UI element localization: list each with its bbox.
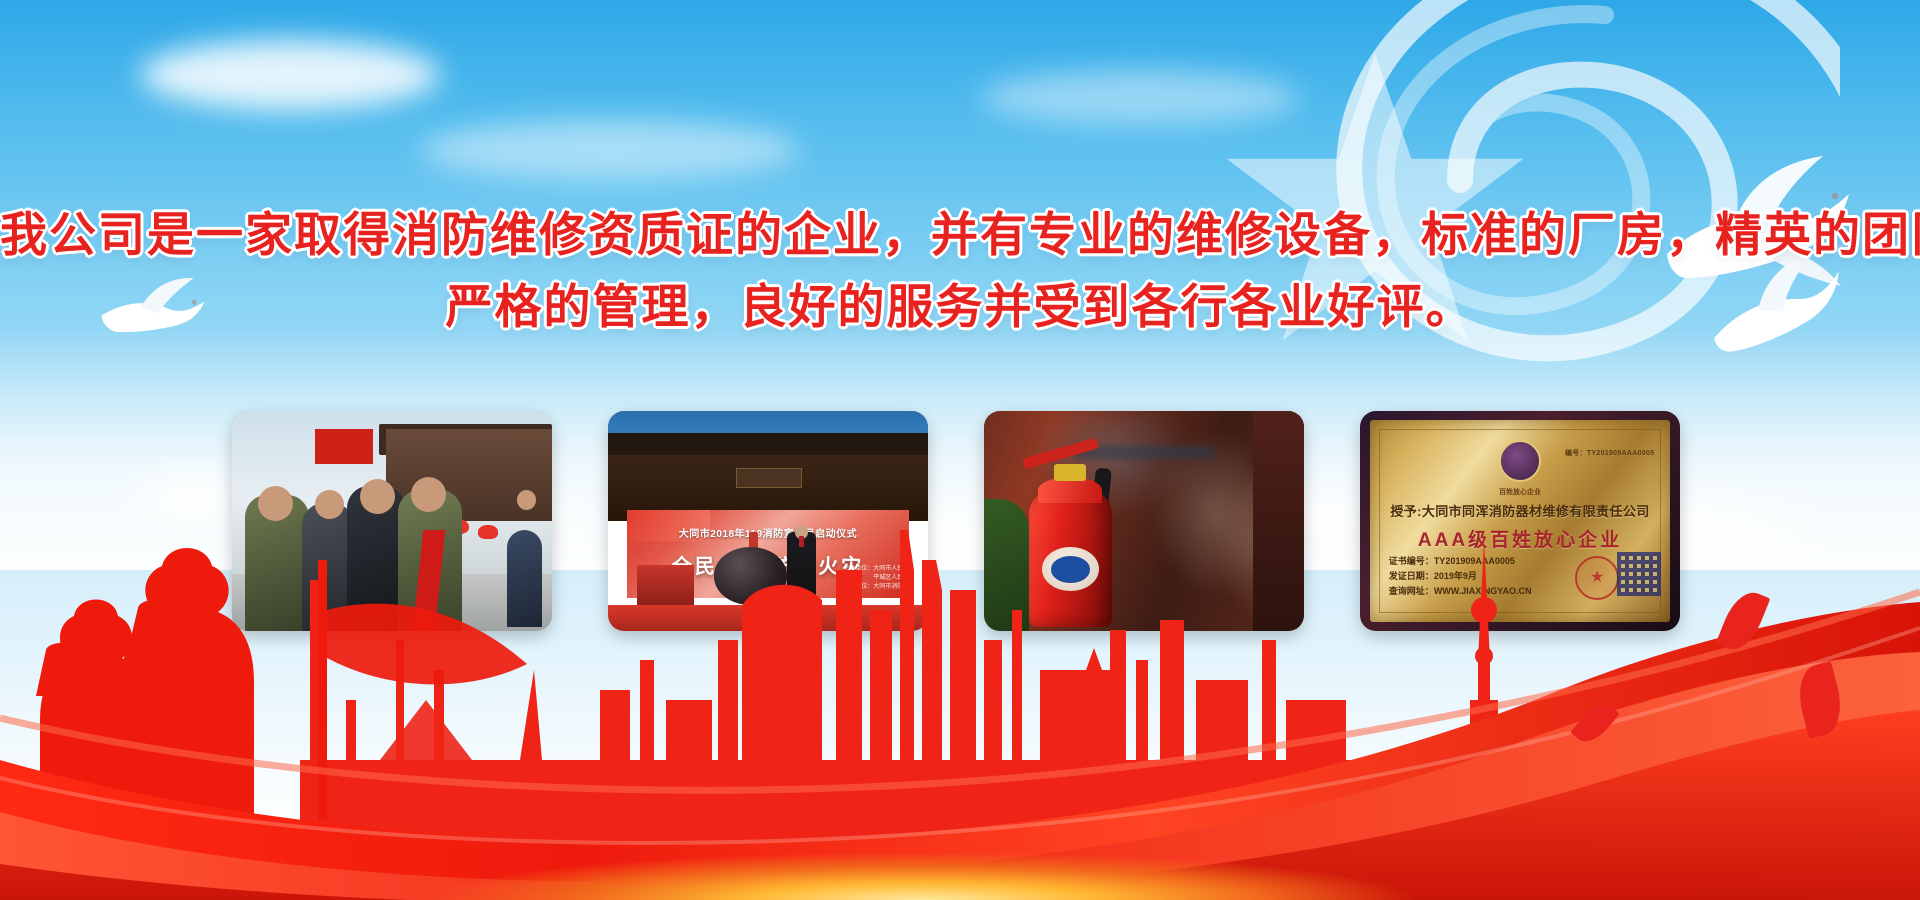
headline-line-1: 我公司是一家取得消防维修资质证的企业，并有专业的维修设备，标准的厂房，精英的团队 xyxy=(0,200,1920,272)
promo-banner: 我公司是一家取得消防维修资质证的企业，并有专业的维修设备，标准的厂房，精英的团队… xyxy=(0,0,1920,900)
headline-line-2: 严格的管理，良好的服务并受到各行各业好评。 xyxy=(0,272,1920,344)
page-title: 我公司是一家取得消防维修资质证的企业，并有专业的维修设备，标准的厂房，精英的团队… xyxy=(0,200,1920,344)
plaque-serial: 编号：TY201909AAA0005 xyxy=(1565,448,1654,458)
bottom-glow xyxy=(0,830,1920,900)
cloud-shape xyxy=(420,120,800,180)
cloud-shape xyxy=(140,40,440,110)
